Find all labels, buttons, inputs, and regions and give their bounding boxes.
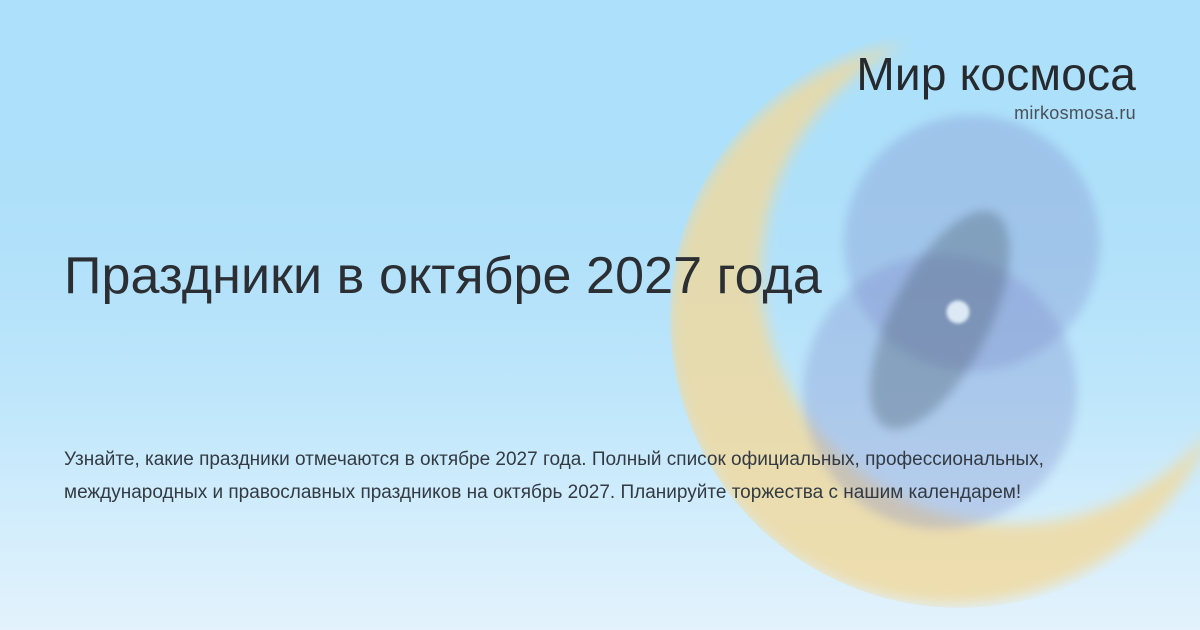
og-card: Мир космоса mirkosmosa.ru Праздники в ок… — [0, 0, 1200, 630]
brand-name: Мир космоса — [856, 50, 1136, 98]
core-dot — [947, 301, 970, 324]
brand-logo[interactable]: Мир космоса mirkosmosa.ru — [856, 50, 1136, 122]
brand-url: mirkosmosa.ru — [856, 104, 1136, 122]
page-description: Узнайте, какие праздники отмечаются в ок… — [64, 443, 1084, 509]
orbital-ellipse — [842, 191, 1038, 449]
upper-planet-circle — [844, 115, 1100, 371]
page-title: Праздники в октябре 2027 года — [64, 247, 822, 305]
